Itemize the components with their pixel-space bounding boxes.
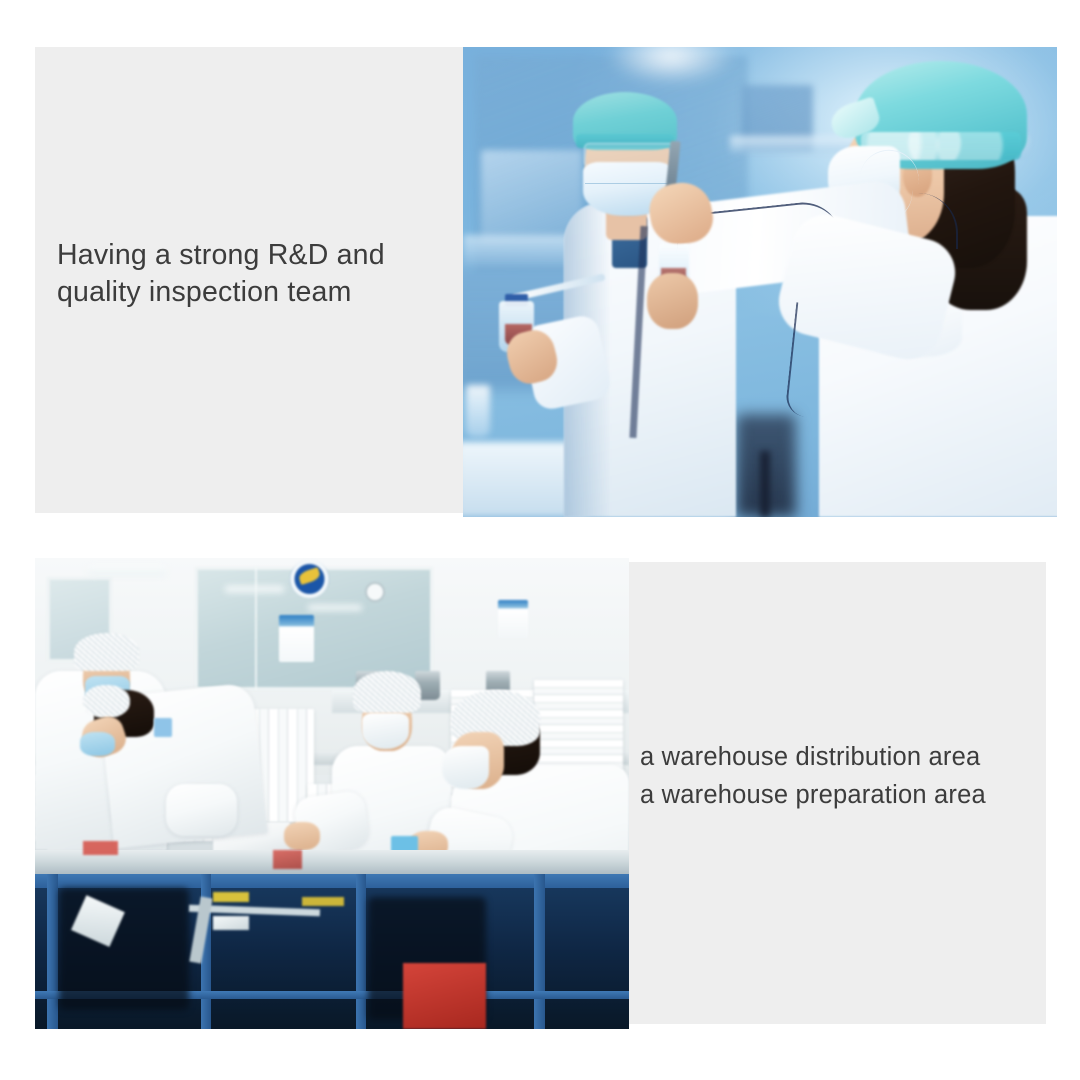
under-table-shadow-mass [59,888,190,1010]
warehouse-packing-photo [35,558,629,1029]
worker-face-mask [80,732,116,756]
table-leg [356,874,367,1029]
worker-hair-net [83,685,131,718]
glass-beaker [466,385,490,437]
worker-arm [166,784,237,836]
red-item [273,850,303,869]
worker-hair-net [74,633,139,671]
table-leg [47,874,58,1029]
red-bin [403,963,486,1029]
technician-2-coat-trim [784,302,951,431]
caption-line-1: a warehouse distribution area [640,738,1060,776]
worker-hair-net [353,671,421,713]
wall-notice-sign [279,615,315,662]
lab-technicians-photo [463,47,1057,517]
technician-2-lower-hand [647,273,697,329]
ceiling-light [88,567,165,575]
wall-clock [365,582,385,603]
yellow-marking [302,897,344,905]
ceiling-light [308,605,361,611]
yellow-marking [213,892,249,901]
steel-table-top [35,850,629,876]
table-leg [534,874,545,1029]
wall-notice-sign [498,600,528,638]
ceiling-light [225,586,284,593]
caption-line-2: a warehouse preparation area [640,776,1060,814]
carton-stack [534,680,623,774]
caption-warehouse: a warehouse distribution area a warehous… [640,738,1060,814]
technician-1-mask-fold [585,183,671,184]
caption-line-1: Having a strong R&D and [57,237,457,274]
page-root: Having a strong R&D and quality inspecti… [0,0,1080,1080]
ceiling-light-glow [606,47,737,85]
worker-face-mask [362,713,410,748]
section-rd-quality: Having a strong R&D and quality inspecti… [35,47,1057,517]
worker-hand [284,822,320,850]
section-warehouse: a warehouse distribution area a warehous… [35,558,1046,1029]
badge [154,718,172,737]
lab-stool-leg [760,451,770,517]
worker-face-mask [442,746,490,788]
caption-line-2: quality inspection team [57,274,457,311]
caption-rd-quality: Having a strong R&D and quality inspecti… [57,237,457,311]
paper-scrap [213,916,249,930]
red-item [83,841,119,855]
